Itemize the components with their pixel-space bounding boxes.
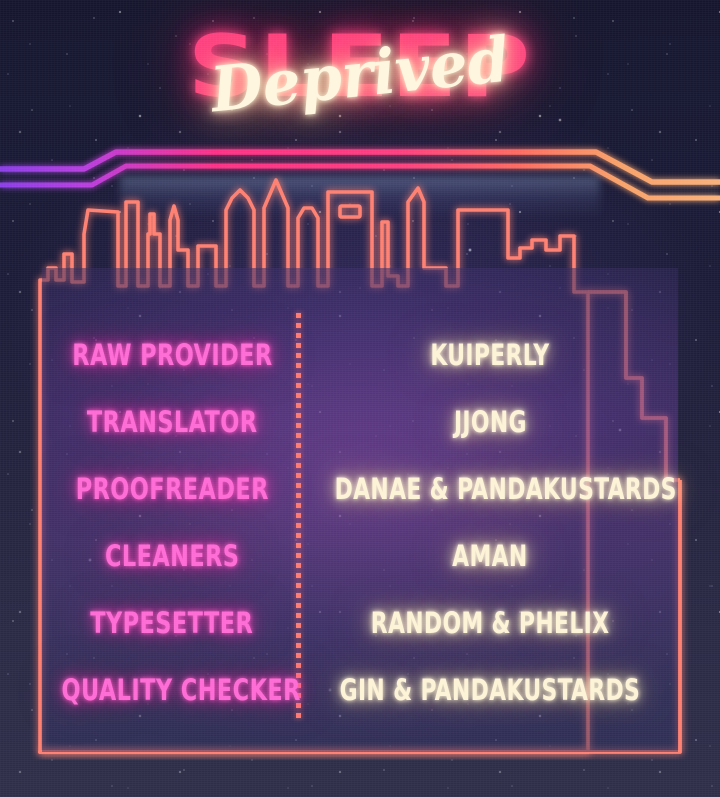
table-row: QUALITY CHECKER GIN & PANDAKUSTARDS — [42, 667, 678, 713]
credit-name-value: RANDOM & PHELIX — [371, 609, 610, 638]
credit-name-value: DANAE & PANDAKUSTARDS — [335, 475, 677, 504]
credit-role-cell: QUALITY CHECKER — [42, 676, 302, 705]
credit-role-cell: CLEANERS — [42, 542, 302, 571]
credit-name-value: KUIPERLY — [430, 341, 549, 370]
credit-name-cell: KUIPERLY — [302, 341, 678, 370]
credits-table: RAW PROVIDER KUIPERLY TRANSLATOR JJONG P… — [42, 300, 678, 752]
credit-name-cell: RANDOM & PHELIX — [302, 609, 678, 638]
table-row: TRANSLATOR JJONG — [42, 399, 678, 445]
poster-canvas: SLEEP Deprived — [0, 0, 720, 797]
credit-name-value: GIN & PANDAKUSTARDS — [340, 676, 641, 705]
credit-role-cell: TYPESETTER — [42, 609, 302, 638]
credit-role-label: TRANSLATOR — [87, 408, 258, 437]
credit-role-cell: PROOFREADER — [42, 475, 302, 504]
table-row: TYPESETTER RANDOM & PHELIX — [42, 600, 678, 646]
credit-name-cell: JJONG — [302, 408, 678, 437]
credit-name-cell: AMAN — [302, 542, 678, 571]
table-row: PROOFREADER DANAE & PANDAKUSTARDS — [42, 466, 678, 512]
credit-role-label: CLEANERS — [105, 542, 239, 571]
credit-name-value: JJONG — [454, 408, 527, 437]
credit-role-cell: TRANSLATOR — [42, 408, 302, 437]
table-row: RAW PROVIDER KUIPERLY — [42, 332, 678, 378]
credit-role-label: QUALITY CHECKER — [61, 676, 300, 705]
table-row: CLEANERS AMAN — [42, 533, 678, 579]
credit-role-cell: RAW PROVIDER — [42, 341, 302, 370]
credit-name-cell: DANAE & PANDAKUSTARDS — [302, 475, 678, 504]
credit-role-label: PROOFREADER — [75, 475, 268, 504]
credit-name-value: AMAN — [452, 542, 527, 571]
title-block: SLEEP Deprived — [0, 10, 720, 145]
credit-name-cell: GIN & PANDAKUSTARDS — [302, 676, 678, 705]
credit-role-label: TYPESETTER — [91, 609, 254, 638]
credit-role-label: RAW PROVIDER — [72, 341, 272, 370]
